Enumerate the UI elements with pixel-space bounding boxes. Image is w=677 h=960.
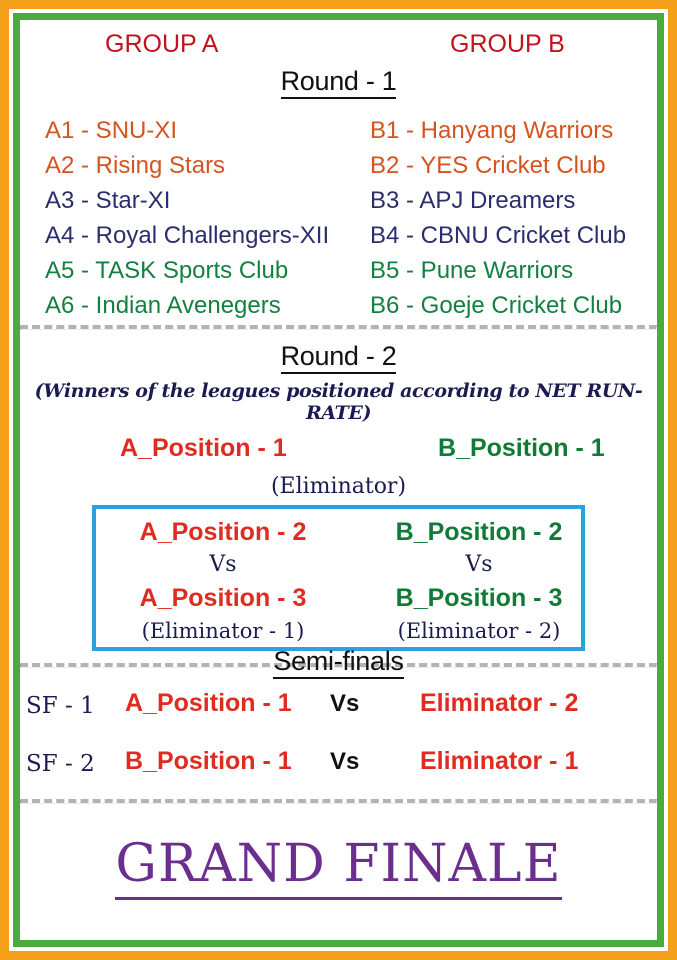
top-positions-row: A_Position - 1 B_Position - 1	[20, 434, 657, 470]
round-2-heading: Round - 2	[20, 341, 657, 372]
round-1-section: GROUP A GROUP B Round - 1 A1 - SNU-XI A2…	[20, 20, 657, 330]
eliminator-1-team-bottom: A_Position - 3	[98, 581, 348, 615]
group-titles: GROUP A GROUP B	[20, 20, 657, 64]
round-1-heading: Round - 1	[20, 66, 657, 97]
eliminator-1-vs: Vs	[98, 549, 348, 581]
team-row: A2 - Rising Stars	[45, 148, 329, 183]
eliminator-1-team-top: A_Position - 2	[98, 515, 348, 549]
semi-finals-heading: Semi-finals	[20, 646, 657, 677]
grand-finale-section: GRAND FINALE	[20, 768, 657, 894]
sf-1-team-2: Eliminator - 2	[420, 689, 578, 718]
round-1-heading-text: Round - 1	[281, 66, 397, 99]
round-2-heading-text: Round - 2	[281, 341, 397, 374]
team-row: A1 - SNU-XI	[45, 113, 329, 148]
semi-final-row: SF - 1 A_Position - 1 Vs Eliminator - 2	[20, 685, 657, 735]
team-row: B5 - Pune Warriors	[370, 253, 626, 288]
sf-1-label: SF - 1	[26, 693, 95, 719]
team-row: A4 - Royal Challengers-XII	[45, 218, 329, 253]
semi-finals-heading-text: Semi-finals	[273, 646, 403, 679]
grand-finale-title: GRAND FINALE	[20, 834, 657, 894]
eliminator-label: (Eliminator)	[20, 474, 657, 499]
tournament-poster: GROUP A GROUP B Round - 1 A1 - SNU-XI A2…	[0, 0, 677, 960]
sf-1-team-1: A_Position - 1	[125, 689, 292, 718]
team-row: A6 - Indian Avenegers	[45, 288, 329, 323]
sf-1-vs: Vs	[330, 690, 359, 718]
grand-finale-title-text: GRAND FINALE	[115, 834, 561, 900]
poster-sheet: GROUP A GROUP B Round - 1 A1 - SNU-XI A2…	[20, 20, 657, 940]
team-row: B1 - Hanyang Warriors	[370, 113, 626, 148]
b-position-1: B_Position - 1	[438, 434, 605, 463]
a-position-1: A_Position - 1	[120, 434, 287, 463]
group-a-team-list: A1 - SNU-XI A2 - Rising Stars A3 - Star-…	[45, 113, 329, 323]
eliminator-2-team-bottom: B_Position - 3	[354, 581, 604, 615]
eliminator-box: A_Position - 2 Vs A_Position - 3 (Elimin…	[92, 505, 585, 651]
team-row: B3 - APJ Dreamers	[370, 183, 626, 218]
round-2-note: (Winners of the leagues positioned accor…	[20, 380, 657, 424]
team-lists: A1 - SNU-XI A2 - Rising Stars A3 - Star-…	[20, 113, 657, 325]
eliminator-1-match: A_Position - 2 Vs A_Position - 3 (Elimin…	[98, 515, 348, 647]
eliminator-2-match: B_Position - 2 Vs B_Position - 3 (Elimin…	[354, 515, 604, 647]
team-row: A3 - Star-XI	[45, 183, 329, 218]
group-b-team-list: B1 - Hanyang Warriors B2 - YES Cricket C…	[370, 113, 626, 323]
team-row: B4 - CBNU Cricket Club	[370, 218, 626, 253]
eliminator-2-vs: Vs	[354, 549, 604, 581]
round-2-section: Round - 2 (Winners of the leagues positi…	[20, 327, 657, 668]
group-b-title: GROUP B	[450, 30, 565, 59]
team-row: B6 - Goeje Cricket Club	[370, 288, 626, 323]
group-a-title: GROUP A	[105, 30, 218, 59]
eliminator-2-team-top: B_Position - 2	[354, 515, 604, 549]
team-row: A5 - TASK Sports Club	[45, 253, 329, 288]
team-row: B2 - YES Cricket Club	[370, 148, 626, 183]
